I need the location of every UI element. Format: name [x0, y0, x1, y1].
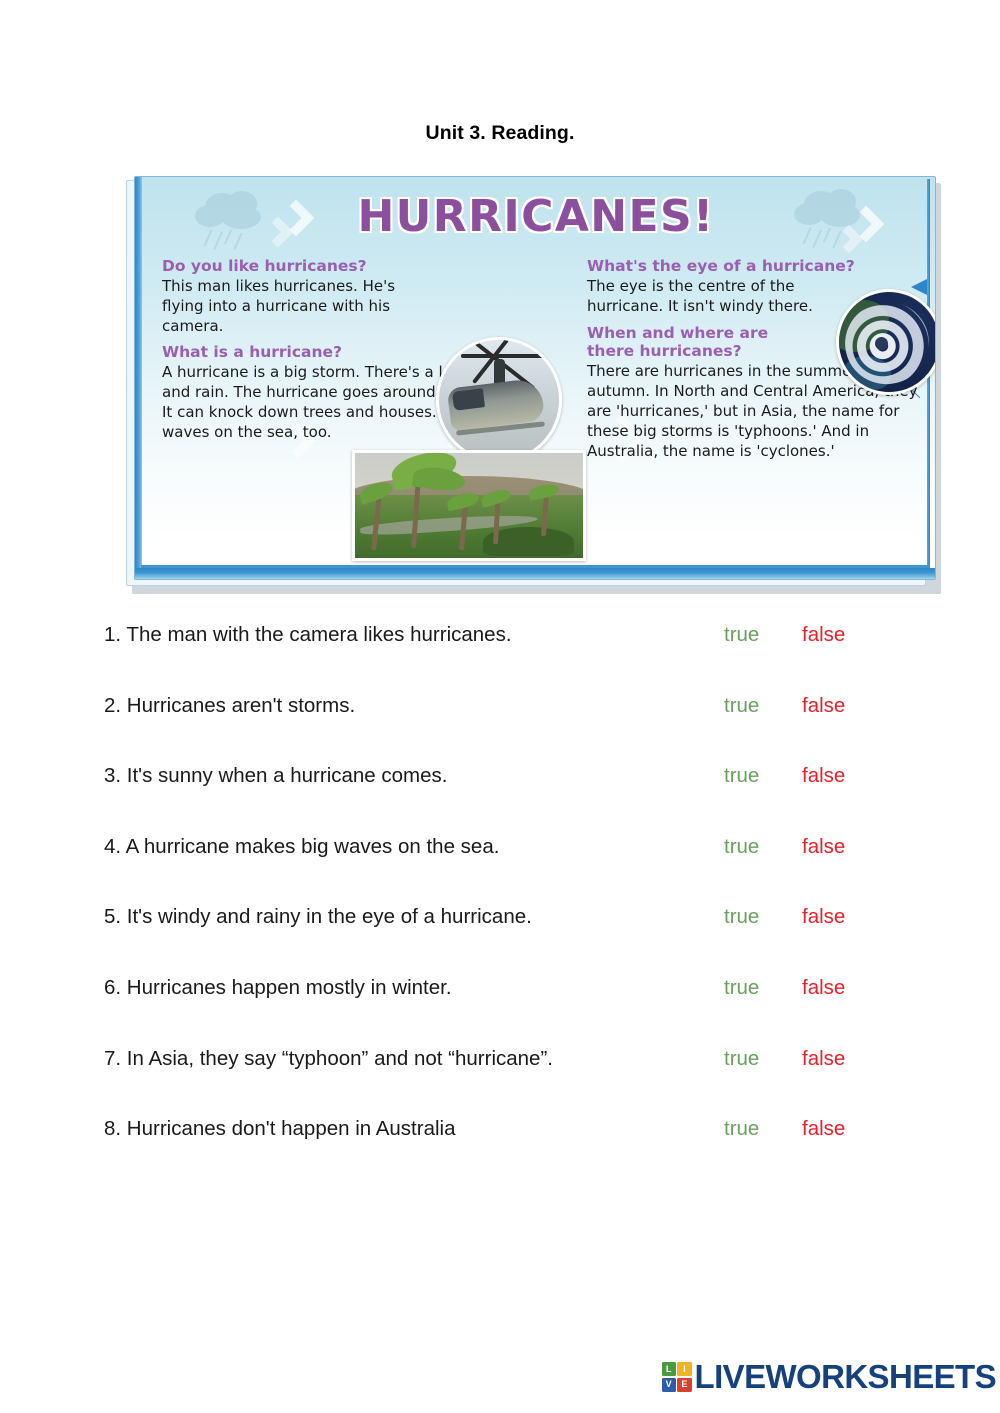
page-title: Unit 3. Reading.	[0, 122, 1000, 145]
brand-name: LIVEWORKSHEETS	[695, 1358, 996, 1396]
answer-option-true[interactable]: true	[724, 624, 802, 647]
table-row: 1. The man with the camera likes hurrica…	[104, 624, 894, 695]
helicopter-photo	[436, 337, 562, 463]
answer-option-false[interactable]: false	[802, 624, 882, 647]
card-title: HURRICANES!	[135, 191, 936, 242]
question-text: 4. A hurricane makes big waves on the se…	[104, 836, 724, 859]
passage-heading: Do you like hurricanes?	[162, 257, 548, 276]
table-row: 5. It's windy and rainy in the eye of a …	[104, 906, 894, 977]
answer-option-false[interactable]: false	[802, 977, 882, 1000]
logo-letter-i: I	[677, 1362, 691, 1376]
question-text: 3. It's sunny when a hurricane comes.	[104, 765, 724, 788]
table-row: 7. In Asia, they say “typhoon” and not “…	[104, 1048, 894, 1119]
card-right-column: What's the eye of a hurricane? The eye i…	[587, 257, 927, 473]
logo-letter-l: L	[662, 1362, 676, 1376]
answer-option-false[interactable]: false	[802, 906, 882, 929]
liveworksheets-logo[interactable]: L I V E LIVEWORKSHEETS	[662, 1358, 996, 1396]
logo-letter-e: E	[677, 1378, 691, 1392]
card-left-column: Do you like hurricanes? This man likes h…	[162, 257, 548, 454]
palm-trees-photo	[352, 450, 586, 561]
answer-option-true[interactable]: true	[724, 836, 802, 859]
passage-heading: When and where are there hurricanes?	[587, 324, 807, 362]
passage-heading: What's the eye of a hurricane?	[587, 257, 927, 276]
passage-body: This man likes hurricanes. He's flying i…	[162, 277, 412, 336]
passage-block: Do you like hurricanes? This man likes h…	[162, 257, 548, 336]
answer-option-true[interactable]: true	[724, 1048, 802, 1071]
question-text: 2. Hurricanes aren't storms.	[104, 695, 724, 718]
table-row: 2. Hurricanes aren't storms. true false	[104, 695, 894, 766]
question-text: 1. The man with the camera likes hurrica…	[104, 624, 724, 647]
answer-option-true[interactable]: true	[724, 1118, 802, 1141]
answer-option-false[interactable]: false	[802, 695, 882, 718]
card-surface: HURRICANES! Do you like hurricanes? This…	[134, 176, 936, 580]
table-row: 8. Hurricanes don't happen in Australia …	[104, 1118, 894, 1189]
worksheet-page: Unit 3. Reading.	[0, 0, 1000, 1413]
question-text: 5. It's windy and rainy in the eye of a …	[104, 906, 724, 929]
reading-card: HURRICANES! Do you like hurricanes? This…	[126, 176, 941, 594]
question-text: 6. Hurricanes happen mostly in winter.	[104, 977, 724, 1000]
answer-option-false[interactable]: false	[802, 765, 882, 788]
answer-option-false[interactable]: false	[802, 836, 882, 859]
table-row: 6. Hurricanes happen mostly in winter. t…	[104, 977, 894, 1048]
passage-body: The eye is the centre of the hurricane. …	[587, 277, 817, 317]
answer-option-false[interactable]: false	[802, 1118, 882, 1141]
liveworksheets-logo-icon: L I V E	[662, 1362, 692, 1392]
hurricane-eye-photo	[836, 289, 936, 395]
answer-option-true[interactable]: true	[724, 906, 802, 929]
table-row: 4. A hurricane makes big waves on the se…	[104, 836, 894, 907]
question-text: 7. In Asia, they say “typhoon” and not “…	[104, 1048, 724, 1071]
card-bottom-bar	[135, 568, 935, 579]
table-row: 3. It's sunny when a hurricane comes. tr…	[104, 765, 894, 836]
question-text: 8. Hurricanes don't happen in Australia	[104, 1118, 724, 1141]
answer-option-false[interactable]: false	[802, 1048, 882, 1071]
question-list: 1. The man with the camera likes hurrica…	[104, 624, 894, 1189]
answer-option-true[interactable]: true	[724, 977, 802, 1000]
answer-option-true[interactable]: true	[724, 765, 802, 788]
logo-letter-v: V	[662, 1378, 676, 1392]
answer-option-true[interactable]: true	[724, 695, 802, 718]
